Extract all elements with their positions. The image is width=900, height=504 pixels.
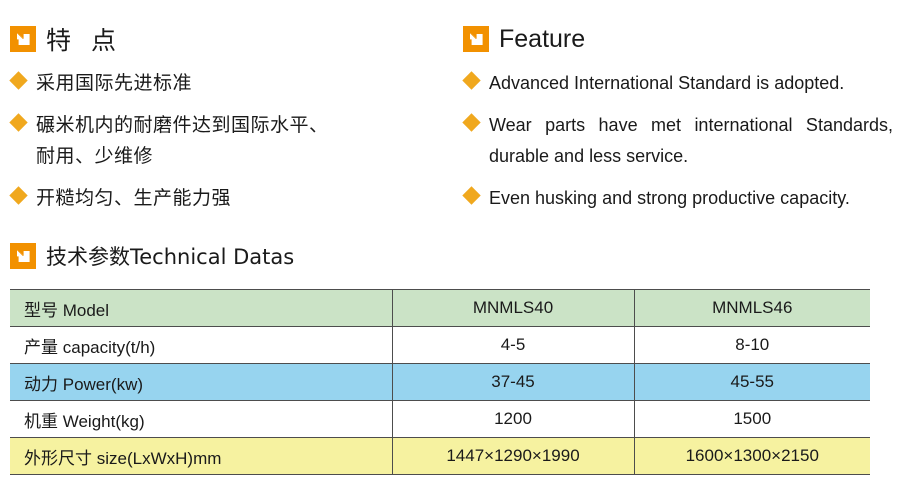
features-section: 特 点 采用国际先进标准 碾米机内的耐磨件达到国际水平、 耐用、少维修 开糙均匀… (0, 0, 900, 225)
table-cell-value-b: MNMLS46 (634, 290, 870, 327)
label-chinese: 机重 (24, 412, 58, 432)
table-cell-value-b: 1500 (634, 401, 870, 438)
features-heading-chinese: 特 点 (10, 22, 455, 56)
label-chinese: 型号 (24, 301, 58, 321)
diamond-bullet-icon (9, 186, 27, 204)
table-cell-label: 机重 Weight(kg) (10, 401, 392, 438)
list-item: 开糙均匀、生产能力强 (10, 183, 455, 214)
diamond-bullet-icon (9, 71, 27, 89)
list-item-line-2: 耐用、少维修 (36, 145, 153, 167)
table-cell-label: 产量 capacity(t/h) (10, 327, 392, 364)
features-column-chinese: 特 点 采用国际先进标准 碾米机内的耐磨件达到国际水平、 耐用、少维修 开糙均匀… (0, 22, 455, 225)
arrow-down-right-icon (10, 26, 36, 52)
table-cell-value-b: 8-10 (634, 327, 870, 364)
label-chinese: 外形尺寸 (24, 449, 92, 469)
label-chinese: 产量 (24, 338, 58, 358)
label-english: size(LxWxH)mm (97, 449, 222, 468)
table-cell-value-a: 4-5 (392, 327, 634, 364)
table-cell-label: 动力 Power(kw) (10, 364, 392, 401)
list-item: 采用国际先进标准 (10, 68, 455, 99)
features-heading-english: Feature (463, 22, 900, 56)
table-row: 动力 Power(kw) 37-45 45-55 (10, 364, 870, 401)
diamond-bullet-icon (462, 186, 480, 204)
list-item-label: 采用国际先进标准 (36, 68, 192, 99)
spec-table-wrapper: 型号 Model MNMLS40 MNMLS46 产量 capacity(t/h… (10, 289, 870, 475)
table-cell-value-a: 1200 (392, 401, 634, 438)
table-row: 外形尺寸 size(LxWxH)mm 1447×1290×1990 1600×1… (10, 438, 870, 475)
technical-datas-title: 技术参数Technical Datas (46, 241, 294, 271)
list-item-label: 碾米机内的耐磨件达到国际水平、 耐用、少维修 (36, 110, 329, 172)
list-item: Even husking and strong productive capac… (463, 183, 900, 214)
features-list-english: Advanced International Standard is adopt… (463, 68, 900, 214)
table-row: 机重 Weight(kg) 1200 1500 (10, 401, 870, 438)
table-cell-label: 外形尺寸 size(LxWxH)mm (10, 438, 392, 475)
diamond-bullet-icon (9, 113, 27, 131)
list-item-label: Wear parts have met international Standa… (489, 110, 893, 172)
features-title-chinese: 特 点 (46, 21, 122, 57)
table-cell-value-a: 1447×1290×1990 (392, 438, 634, 475)
arrow-down-right-icon (463, 26, 489, 52)
list-item-line-1: Wear parts have met international Standa… (489, 110, 893, 141)
table-row: 产量 capacity(t/h) 4-5 8-10 (10, 327, 870, 364)
table-cell-label: 型号 Model (10, 290, 392, 327)
table-cell-value-b: 45-55 (634, 364, 870, 401)
list-item-label: Even husking and strong productive capac… (489, 183, 893, 214)
list-item-label: Advanced International Standard is adopt… (489, 68, 893, 99)
list-item-line-1: 碾米机内的耐磨件达到国际水平、 (36, 114, 329, 136)
label-chinese: 动力 (24, 375, 58, 395)
label-english: Weight(kg) (63, 412, 145, 431)
list-item-label: 开糙均匀、生产能力强 (36, 183, 231, 214)
features-column-english: Feature Advanced International Standard … (455, 22, 900, 225)
table-cell-value-a: MNMLS40 (392, 290, 634, 327)
table-cell-value-b: 1600×1300×2150 (634, 438, 870, 475)
list-item: Wear parts have met international Standa… (463, 110, 900, 172)
table-row: 型号 Model MNMLS40 MNMLS46 (10, 290, 870, 327)
label-english: capacity(t/h) (63, 338, 156, 357)
diamond-bullet-icon (462, 113, 480, 131)
label-english: Model (63, 301, 109, 320)
table-cell-value-a: 37-45 (392, 364, 634, 401)
features-list-chinese: 采用国际先进标准 碾米机内的耐磨件达到国际水平、 耐用、少维修 开糙均匀、生产能… (10, 68, 455, 214)
list-item-line-2: durable and less service. (489, 146, 688, 166)
features-title-english: Feature (499, 25, 585, 54)
arrow-down-right-icon (10, 243, 36, 269)
diamond-bullet-icon (462, 71, 480, 89)
list-item: 碾米机内的耐磨件达到国际水平、 耐用、少维修 (10, 110, 455, 172)
list-item: Advanced International Standard is adopt… (463, 68, 900, 99)
spec-table: 型号 Model MNMLS40 MNMLS46 产量 capacity(t/h… (10, 289, 870, 475)
label-english: Power(kw) (63, 375, 143, 394)
technical-datas-heading: 技术参数Technical Datas (0, 241, 900, 271)
